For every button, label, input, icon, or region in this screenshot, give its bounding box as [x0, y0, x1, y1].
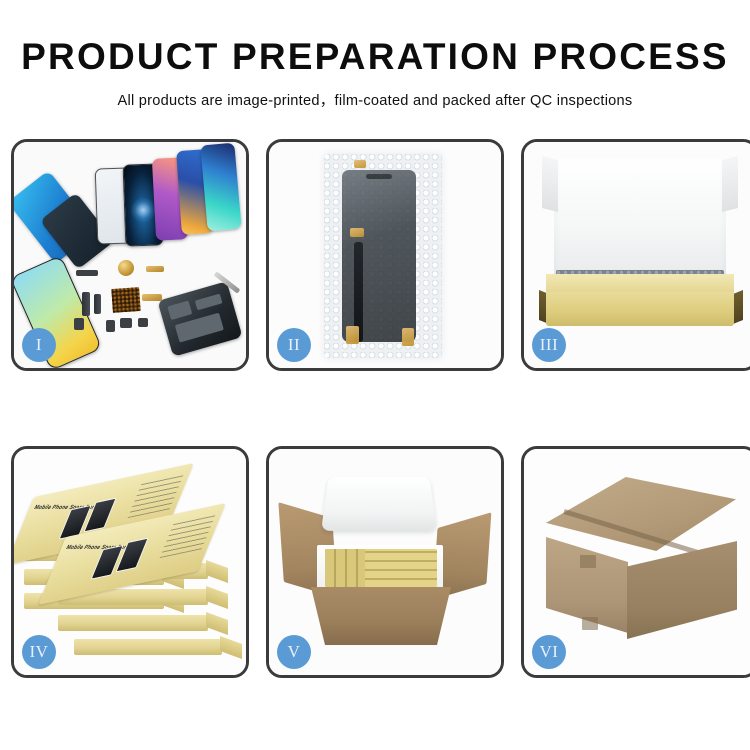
- screw-tray-icon: [111, 287, 141, 313]
- process-step-3[interactable]: III: [521, 139, 750, 371]
- step-badge-5: V: [277, 635, 311, 669]
- process-step-grid: I II: [11, 139, 739, 678]
- chassis-part-b: [195, 294, 223, 311]
- chassis-battery: [175, 313, 224, 343]
- gold-connector-icon-2: [142, 294, 162, 301]
- small-part-icon-3: [138, 318, 148, 327]
- tape-piece-icon-2: [350, 228, 364, 237]
- page-subtitle: All products are image-printed，film-coat…: [0, 89, 750, 110]
- white-foam-lid-icon: [554, 158, 726, 278]
- carton-tape-patch-2: [582, 617, 598, 630]
- page-title: PRODUCT PREPARATION PROCESS: [0, 38, 750, 77]
- flex-cable-icon-2: [94, 294, 101, 314]
- tape-piece-icon-3: [346, 326, 359, 344]
- speaker-part-icon: [76, 270, 98, 276]
- step-badge-2: II: [277, 328, 311, 362]
- process-step-2[interactable]: II: [266, 139, 504, 371]
- gold-connector-icon-1: [146, 266, 164, 272]
- phone-notch-icon: [366, 174, 392, 179]
- carton-tape-patch-1: [580, 555, 596, 568]
- foam-lid-open-icon: [321, 477, 437, 531]
- stacked-box-edge-7: [58, 615, 208, 631]
- process-step-4[interactable]: Mobile Phone Spare Parts Mobile Phone Sp…: [11, 446, 249, 678]
- step-badge-4: IV: [22, 635, 56, 669]
- tray-top-edge: [546, 274, 734, 294]
- tape-piece-icon-1: [354, 160, 366, 168]
- small-part-icon-1: [106, 320, 115, 332]
- tray-side-right: [733, 290, 743, 324]
- small-part-icon-2: [120, 318, 132, 328]
- process-step-1[interactable]: I: [11, 139, 249, 371]
- yellow-tray-box-icon: [546, 292, 734, 326]
- display-swirl-icon: [130, 196, 157, 223]
- small-part-icon-4: [74, 318, 84, 330]
- process-step-5[interactable]: V: [266, 446, 504, 678]
- carton-body-icon: [311, 587, 451, 645]
- chassis-part-a: [167, 300, 192, 320]
- page-header: PRODUCT PREPARATION PROCESS All products…: [0, 0, 750, 110]
- process-step-6[interactable]: VI: [521, 446, 750, 678]
- stacked-box-edge-8: [74, 639, 222, 655]
- yellow-boxes-stack-icon: [365, 549, 437, 587]
- flex-cable-icon-1: [82, 292, 90, 316]
- foam-flap-left: [542, 156, 558, 212]
- vibration-motor-icon: [118, 260, 134, 276]
- bubble-wrap-bag-icon: [324, 154, 442, 358]
- step-badge-6: VI: [532, 635, 566, 669]
- box-artwork-phone-2b: [115, 537, 148, 572]
- tape-piece-icon-4: [402, 328, 414, 346]
- foam-flap-right: [722, 156, 738, 212]
- step-badge-3: III: [532, 328, 566, 362]
- step-badge-1: I: [22, 328, 56, 362]
